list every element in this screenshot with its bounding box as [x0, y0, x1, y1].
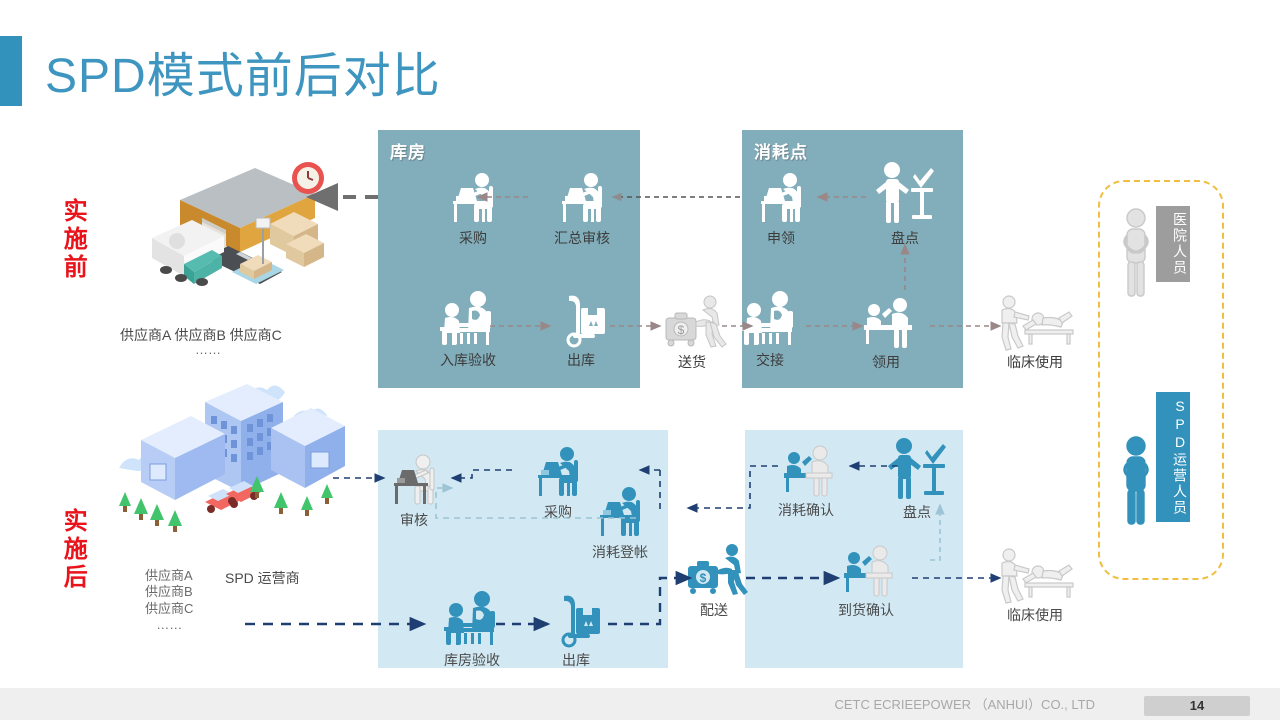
node-xiaohao-queren[interactable]: 消耗确认	[758, 440, 854, 520]
node-jiaojie-before[interactable]: 交接	[722, 290, 818, 370]
node-label-xiaohao-dengzhang: 消耗登帐	[572, 542, 668, 562]
node-lingyong-before[interactable]: 领用	[838, 292, 934, 372]
after-supplier-list: 供应商A 供应商B 供应商C ……	[145, 568, 193, 633]
page-title: SPD模式前后对比	[45, 36, 441, 106]
counter-handover-icon	[818, 540, 914, 600]
after-supplier-line-1: 供应商A	[145, 568, 193, 584]
node-shenling-before[interactable]: 申领	[733, 168, 829, 248]
person-at-desk-icon	[425, 168, 521, 228]
node-label-chuku-after: 出库	[528, 650, 624, 670]
node-label-kufang-yanshou: 库房验收	[424, 650, 520, 670]
person-checklist-icon	[857, 160, 953, 228]
footer-company: CETC ECRIEEPOWER （ANHUI）CO., LTD	[834, 694, 1095, 713]
node-label-shenhe-after: 审核	[366, 510, 462, 530]
node-linchuang-after[interactable]: 临床使用	[985, 545, 1085, 625]
node-label-jiaojie-before: 交接	[722, 350, 818, 370]
counter-handover-icon	[838, 292, 934, 352]
node-label-rukou-before: 入库验收	[420, 350, 516, 370]
node-chuku-before[interactable]: 出库	[533, 290, 629, 370]
hospital-city-illustration	[95, 380, 355, 550]
person-arms-crossed-icon	[1116, 434, 1156, 534]
node-label-huizong-before: 汇总审核	[534, 228, 630, 248]
after-supplier-line-4: ……	[145, 617, 193, 633]
person-at-desk-icon	[572, 482, 668, 542]
node-label-chuku-before: 出库	[533, 350, 629, 370]
page-number: 14	[1144, 696, 1250, 716]
two-people-desk-icon	[420, 290, 516, 350]
two-people-desk-icon	[424, 590, 520, 650]
node-label-peisong: 配送	[666, 600, 762, 620]
node-linchuang-before[interactable]: 临床使用	[985, 292, 1085, 372]
node-pandian-before[interactable]: 盘点	[857, 160, 953, 248]
warehouse-illustration	[140, 160, 340, 300]
panel-title-warehouse-before: 库房	[390, 138, 426, 163]
legend-label-hospital-staff: 医院人员	[1156, 206, 1190, 282]
node-kufang-yanshou[interactable]: 库房验收	[424, 590, 520, 670]
panel-title-consumption-before: 消耗点	[754, 138, 808, 163]
node-huizong-before[interactable]: 汇总审核	[534, 168, 630, 248]
node-label-linchuang-before: 临床使用	[985, 352, 1085, 372]
node-label-shenling-before: 申领	[733, 228, 829, 248]
before-supplier-ellipsis: ……	[195, 342, 221, 358]
node-label-linchuang-after: 临床使用	[985, 605, 1085, 625]
node-label-daohuo-queren: 到货确认	[818, 600, 914, 620]
node-rukou-before[interactable]: 入库验收	[420, 290, 516, 370]
node-xiaohao-dengzhang[interactable]: 消耗登帐	[572, 482, 668, 562]
legend-label-spd-staff: SPD运营人员	[1156, 392, 1190, 522]
svg-text:$: $	[700, 571, 707, 585]
clinical-bed-icon	[985, 292, 1085, 352]
person-at-desk-icon	[733, 168, 829, 228]
two-people-desk-icon	[722, 290, 818, 350]
after-supplier-line-3: 供应商C	[145, 601, 193, 617]
node-shenhe-after[interactable]: 审核	[366, 450, 462, 530]
hand-truck-box-icon	[533, 290, 629, 350]
node-label-caigou-before: 采购	[425, 228, 521, 248]
node-chuku-after[interactable]: 出库	[528, 590, 624, 670]
node-peisong[interactable]: $ 配送	[666, 540, 762, 620]
person-at-desk-icon	[366, 450, 462, 510]
node-pandian-after[interactable]: 盘点	[869, 436, 965, 522]
phase-label-after: 实施后	[60, 508, 85, 592]
person-arms-crossed-icon	[1116, 206, 1156, 306]
node-label-pandian-after: 盘点	[869, 502, 965, 522]
counter-handover-icon	[758, 440, 854, 500]
slide-canvas: SPD模式前后对比 实施前 实施后	[0, 0, 1280, 720]
after-supplier-line-2: 供应商B	[145, 584, 193, 600]
clinical-bed-icon	[985, 545, 1085, 605]
spd-operator-caption: SPD 运营商	[225, 568, 300, 588]
delivery-cart-icon: $	[666, 540, 762, 600]
person-checklist-icon	[869, 436, 965, 502]
node-label-xiaohao-queren: 消耗确认	[758, 500, 854, 520]
hand-truck-box-icon	[528, 590, 624, 650]
node-daohuo-queren[interactable]: 到货确认	[818, 540, 914, 620]
node-label-lingyong-before: 领用	[838, 352, 934, 372]
node-label-pandian-before: 盘点	[857, 228, 953, 248]
legend-item-spd-staff: SPD运营人员	[1116, 392, 1190, 534]
title-accent-bar	[0, 36, 22, 106]
legend-box: 医院人员 SPD运营人员	[1098, 180, 1224, 580]
node-caigou-before[interactable]: 采购	[425, 168, 521, 248]
legend-item-hospital-staff: 医院人员	[1116, 206, 1190, 306]
svg-text:$: $	[678, 323, 685, 337]
person-at-desk-icon	[534, 168, 630, 228]
phase-label-before: 实施前	[60, 198, 85, 282]
